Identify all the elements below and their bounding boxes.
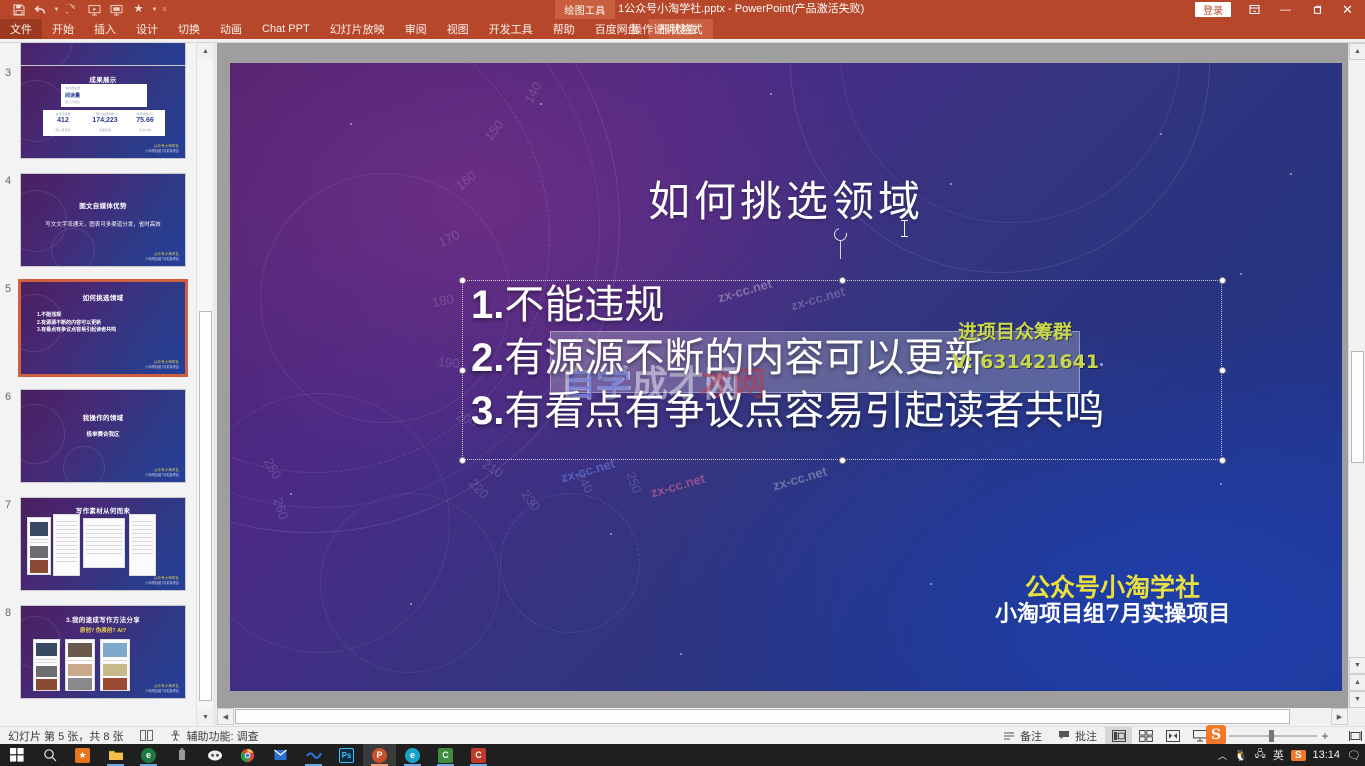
thumbnail-value: 412 [45,117,81,124]
slide-thumbnail[interactable]: 图文自媒体优势 写文文字流通天，图表可多渠道分发，省时高效 公众号小淘学社 小淘… [20,173,186,267]
thumbnail-number: 4 [0,173,20,267]
status-left-group: 幻灯片 第 5 张，共 8 张 辅助功能: 调查 [0,727,267,745]
thumbnail-number: 8 [0,605,20,699]
resize-handle-sw[interactable] [459,457,466,464]
resize-handle-w[interactable] [459,367,466,374]
tab-chat-ppt[interactable]: Chat PPT [252,19,320,39]
scroll-up-icon[interactable]: ▲ [197,43,214,60]
sign-in-button[interactable]: 登录 [1195,2,1231,17]
resize-handle-e[interactable] [1219,367,1226,374]
tab-insert[interactable]: 插入 [84,19,126,39]
tab-developer[interactable]: 开发工具 [479,19,543,39]
screenshot-thumb [53,514,80,576]
title-bar: ▼ ★ ▼ ≡ 绘图工具 1公众号小淘学社.pptx - PowerPoint(… [0,0,1365,19]
thumbnail-title: 3.我的速成写作方法分享 [21,614,185,624]
cloud-app-icon[interactable] [198,744,231,766]
bullet-2: 2.有源源不断的内容可以更新 [37,320,116,328]
thumbnail-caption: 累计总阅读数 [85,112,125,116]
thumbnail-caption: 本月收益(元) [127,112,163,116]
accessibility-label: 辅助功能: 调查 [187,728,259,744]
tab-help[interactable]: 帮助 [543,19,585,39]
list-item[interactable]: 4 图文自媒体优势 写文文字流通天，图表可多渠道分发，省时高效 公众号小淘学社 … [0,173,204,267]
scrollbar-thumb[interactable] [1351,351,1364,463]
undo-dropdown-icon[interactable]: ▼ [52,1,61,19]
powerpoint-icon[interactable]: P [363,744,396,766]
bullet-line-1: 1.不能违规 [471,279,664,332]
wps-icon[interactable] [297,744,330,766]
list-item[interactable]: 7 写作素材从何而来 [0,497,204,591]
tell-me-label: 操作说明搜索 [631,21,697,37]
zoom-slider-knob[interactable] [1269,730,1274,742]
lightbulb-icon: ♀ [617,23,625,35]
qq-penguin-icon[interactable]: 🐧 [1234,749,1248,762]
comments-button[interactable]: 批注 [1050,727,1105,745]
document-title: 1公众号小淘学社.pptx - PowerPoint(产品激活失败) [618,0,864,19]
thumbnail-pane-scrollbar[interactable]: ▲ ▼ [196,43,213,726]
screenshot-thumb [33,639,60,691]
bullet-number: 2. [471,336,504,380]
edge-browser-icon[interactable]: e [132,744,165,766]
teams-icon[interactable]: e [396,744,429,766]
resize-handle-s[interactable] [839,457,846,464]
thumbnail-footer: 公众号小淘学社 小淘项目组7月实操项目 [145,468,179,477]
bullet-1: 1.不能违规 [37,312,116,320]
status-bar: 幻灯片 第 5 张，共 8 张 辅助功能: 调查 备注 批注 [0,726,1365,744]
slide-thumbnail[interactable]: 成果展示 本月阅读量 阅读量 较上月增长 本月阅读量 412 较上月增长 累计总… [20,65,186,159]
thumbnail-footer: 公众号小淘学社 小淘项目组7月实操项目 [145,360,179,369]
show-hidden-icons-chevron[interactable]: ︿ [1218,749,1227,762]
resize-handle-se[interactable] [1219,457,1226,464]
footer-sub: 小淘项目组7月实操项目 [145,257,179,261]
screenshot-thumb [129,514,156,576]
thumbnail-number: 7 [0,497,20,591]
screenshot-thumb [27,517,51,575]
thumbnail-title: 成果展示 [21,74,185,84]
slide-title[interactable]: 如何挑选领域 [230,168,1342,229]
customize-qat-icon[interactable]: ≡ [160,1,169,19]
window-controls: 登录 — ✕ [1195,0,1363,19]
slide-position-indicator[interactable]: 幻灯片 第 5 张，共 8 张 [0,727,132,745]
thumbnail-footer: 公众号小淘学社 小淘项目组7月实操项目 [145,144,179,153]
start-from-current-icon[interactable] [106,1,127,19]
thumbnail-title: 写作素材从何而来 [21,505,185,515]
thumbnail-caption: 本月阅读量 [45,112,81,116]
fit-slide-to-window-icon[interactable] [1345,730,1365,742]
accessibility-status[interactable]: 辅助功能: 调查 [161,727,267,745]
search-icon[interactable] [33,744,66,766]
favorite-star-icon[interactable]: ★ [128,1,149,19]
thumbnail-bullets: 1.不能违规 2.有源源不断的内容可以更新 3.有看点有争议点容易引起读者共鸣 [37,312,116,335]
slide-thumbnail-selected[interactable]: 如何挑选领域 1.不能违规 2.有源源不断的内容可以更新 3.有看点有争议点容易… [20,281,186,375]
slide-body-textbox[interactable]: 1.不能违规 2.有源源不断的内容可以更新 3.有看点有争议点容易引起读者共鸣 [462,280,1222,460]
thumbnail-number: 6 [0,389,20,483]
windows-taskbar: ★ e Ps P [0,744,1365,766]
tab-view[interactable]: 视图 [437,19,479,39]
tab-review[interactable]: 审阅 [395,19,437,39]
list-item[interactable]: 6 我操作的领域 极单赛合我区 公众号小淘学社 小淘项目组7月实操项目 [0,389,204,483]
tab-home[interactable]: 开始 [42,19,84,39]
scroll-up-icon[interactable]: ▲ [1349,43,1365,60]
notes-label: 备注 [1020,728,1042,744]
restore-down-icon[interactable] [1239,0,1270,19]
zoom-slider[interactable] [1229,727,1317,745]
thumbnail-sub: 平台分成 [127,128,163,132]
sogou-s-glyph: S [1206,725,1226,745]
slide-thumbnail-pane[interactable]: 2 3 成果展示 本月阅读量 阅读量 较上月增长 本月阅读量 412 较上月增长… [0,43,204,726]
slide-edit-area[interactable]: 140 150 160 170 180 190 200 210 220 230 … [217,43,1348,708]
slide-sorter-view-button[interactable] [1132,727,1159,745]
favorite-dropdown-icon[interactable]: ▼ [150,1,159,19]
screenshot-thumb [100,639,130,691]
thumbnail-number: 3 [0,65,20,159]
thumbnail-subtitle: 写文文字流通天，图表可多渠道分发，省时高效 [21,220,185,228]
bullet-text: 有看点有争议点容易引起读者共鸣 [504,388,1104,434]
scroll-left-icon[interactable]: ◀ [217,708,234,725]
bullet-line-2: 2.有源源不断的内容可以更新 [471,332,984,385]
save-icon[interactable] [8,1,29,19]
slide-thumbnail[interactable]: 3.我的速成写作方法分享 原创? 伪原创? AI? [20,605,186,699]
thumbnail-title: 如何挑选领域 [21,292,185,302]
quick-access-toolbar: ▼ ★ ▼ ≡ [8,0,169,19]
tab-file[interactable]: 文件 [0,19,42,39]
slide-canvas[interactable]: 140 150 160 170 180 190 200 210 220 230 … [230,63,1342,691]
text-cursor [904,220,905,237]
zoom-in-button[interactable]: + [1317,729,1333,743]
overlay-promo-line1: 进项目众筹群 [958,317,1072,344]
taskbar-clock[interactable]: 13:14 [1313,749,1341,761]
thumbnail-footer: 公众号小淘学社 小淘项目组7月实操项目 [145,252,179,261]
undo-icon[interactable] [30,1,51,19]
rotation-stem [840,241,841,259]
taskbar-app-star-icon[interactable]: ★ [66,744,99,766]
network-icon[interactable]: 🖧 [1255,747,1266,764]
screenshot-thumb [65,639,95,691]
thumbnail-footer: 公众号小淘学社 小淘项目组7月实操项目 [145,576,179,585]
minimize-icon[interactable]: — [1270,0,1301,19]
bullet-number: 3. [471,389,504,433]
bullet-line-3: 3.有看点有争议点容易引起读者共鸣 [471,385,1104,438]
list-item[interactable]: 3 成果展示 本月阅读量 阅读量 较上月增长 本月阅读量 412 较上月增长 累… [0,65,204,159]
ime-language-label[interactable]: 英 [1273,747,1284,763]
scrollbar-thumb[interactable] [235,709,1290,724]
scrollbar-thumb[interactable] [199,311,212,701]
thumbnail-title: 图文自媒体优势 [21,200,185,210]
foxmail-icon[interactable] [264,744,297,766]
scroll-bottom-group[interactable]: ▼ ▲ ▼ [1349,657,1365,708]
thumbnail-value: 阅读量 [65,92,105,99]
next-slide-icon[interactable]: ▼ [1349,691,1365,708]
resize-handle-n[interactable] [839,277,846,284]
tab-transitions[interactable]: 切换 [168,19,210,39]
scroll-down-icon[interactable]: ▼ [197,709,214,726]
action-center-icon[interactable]: 🗨 [1347,749,1361,762]
overlay-promo-line2: V: 631421641 [952,351,1099,373]
chrome-browser-icon[interactable] [231,744,264,766]
reading-view-button[interactable] [1159,727,1186,745]
bullet-text: 有源源不断的内容可以更新 [504,335,984,381]
editor-vertical-scrollbar[interactable]: ▲ ▼ ▲ ▼ [1348,43,1365,708]
excel-icon[interactable]: C [429,744,462,766]
tab-animations[interactable]: 动画 [210,19,252,39]
context-tab-group-label: 绘图工具 [555,0,615,19]
thumbnail-value: 75.66 [127,117,163,124]
tab-slide-show[interactable]: 幻灯片放映 [320,19,395,39]
thumbnail-subtitle: 原创? 伪原创? AI? [21,626,185,634]
footer-sub: 小淘项目组7月实操项目 [145,365,179,369]
tab-design[interactable]: 设计 [126,19,168,39]
comments-label: 批注 [1075,728,1097,744]
slide-credit-sub: 小淘项目组7月实操项目 [995,596,1230,628]
bullet-3: 3.有看点有争议点容易引起读者共鸣 [37,327,116,335]
slide-thumbnail[interactable]: 我操作的领域 极单赛合我区 公众号小淘学社 小淘项目组7月实操项目 [20,389,186,483]
scroll-down-icon[interactable]: ▼ [1349,657,1365,674]
ribbon-tab-bar: 文件 开始 插入 设计 切换 动画 Chat PPT 幻灯片放映 审阅 视图 开… [0,19,1365,39]
thumbnail-caption: 本月阅读量 [65,86,135,90]
thumbnail-sub: 较上月增长 [45,128,81,132]
thumbnail-sub: 较上月增长 [65,100,135,104]
ribbon-tabs: 文件 开始 插入 设计 切换 动画 Chat PPT 幻灯片放映 审阅 视图 开… [0,19,713,39]
previous-slide-icon[interactable]: ▲ [1349,674,1365,691]
office-app-icon[interactable]: C [462,744,495,766]
thumbnail-number: 5 [0,281,20,375]
thumbnail-footer: 公众号小淘学社 小淘项目组7月实操项目 [145,684,179,693]
slide-layout-icon[interactable] [132,727,161,745]
close-icon[interactable]: ✕ [1332,0,1363,19]
resize-handle-ne[interactable] [1219,277,1226,284]
usb-device-icon[interactable] [165,744,198,766]
scroll-right-icon[interactable]: ▶ [1331,708,1348,725]
photoshop-icon[interactable]: Ps [330,744,363,766]
thumbnail-value: 174,223 [85,117,125,124]
thumbnail-title: 我操作的领域 [21,412,185,422]
list-item[interactable]: 8 3.我的速成写作方法分享 原创? 伪原创? AI? [0,605,204,699]
thumbnail-subtitle: 极单赛合我区 [21,430,185,438]
slide-thumbnail[interactable]: 写作素材从何而来 [20,497,186,591]
redo-icon[interactable] [62,1,83,19]
status-right-group: 备注 批注 − + [995,727,1365,745]
dial-tick: 190 [437,354,460,371]
notes-button[interactable]: 备注 [995,727,1050,745]
start-button[interactable] [0,744,33,766]
screenshot-thumb [83,518,125,568]
thumbnail-sub: 全部文章 [85,128,125,132]
maximize-icon[interactable] [1301,0,1332,19]
list-item[interactable]: 5 如何挑选领域 1.不能违规 2.有源源不断的内容可以更新 3.有看点有争议点… [0,281,204,375]
tell-me-search[interactable]: ♀ 操作说明搜索 [617,19,697,39]
normal-view-button[interactable] [1105,727,1132,745]
editor-horizontal-scrollbar[interactable]: ◀ ▶ [217,708,1348,725]
file-explorer-icon[interactable] [99,744,132,766]
footer-sub: 小淘项目组7月实操项目 [145,149,179,153]
footer-sub: 小淘项目组7月实操项目 [145,473,179,477]
bullet-number: 1. [471,283,504,327]
start-from-beginning-icon[interactable] [84,1,105,19]
bullet-text: 不能违规 [504,282,664,328]
sogou-input-icon[interactable]: S [1291,750,1306,761]
footer-sub: 小淘项目组7月实操项目 [145,689,179,693]
resize-handle-nw[interactable] [459,277,466,284]
footer-sub: 小淘项目组7月实操项目 [145,581,179,585]
system-tray: ︿ 🐧 🖧 英 S 13:14 🗨 [1218,747,1361,764]
